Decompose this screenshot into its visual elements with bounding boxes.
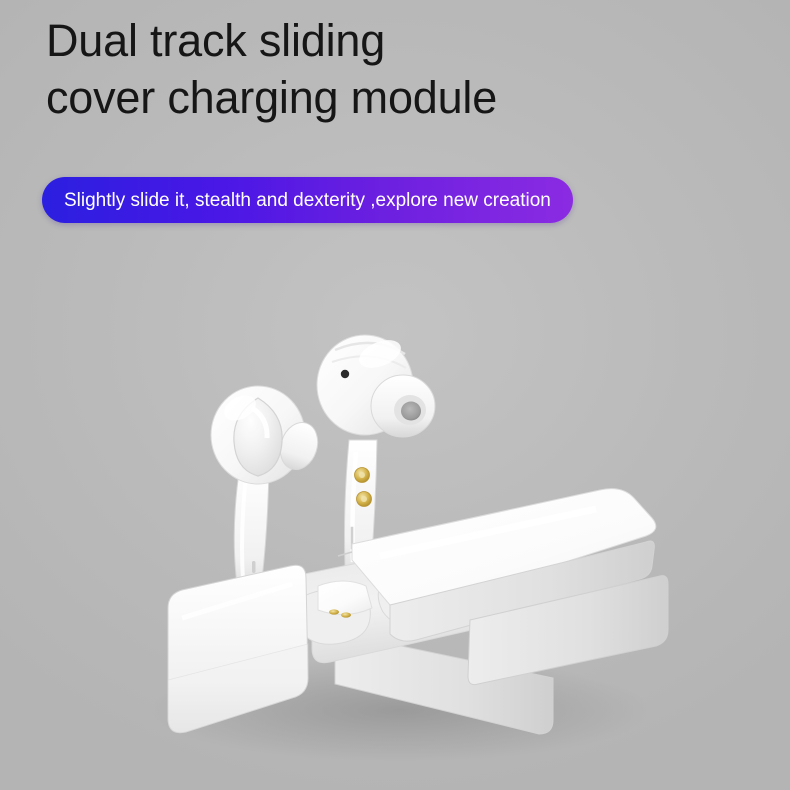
product-promo-page: Dual track sliding cover charging module… bbox=[0, 0, 790, 790]
tagline-text: Slightly slide it, stealth and dexterity… bbox=[64, 191, 551, 210]
product-image bbox=[0, 280, 790, 790]
left-earbud-graphic bbox=[211, 386, 324, 599]
tagline-banner: Slightly slide it, stealth and dexterity… bbox=[42, 177, 573, 223]
page-title: Dual track sliding cover charging module bbox=[46, 12, 706, 126]
